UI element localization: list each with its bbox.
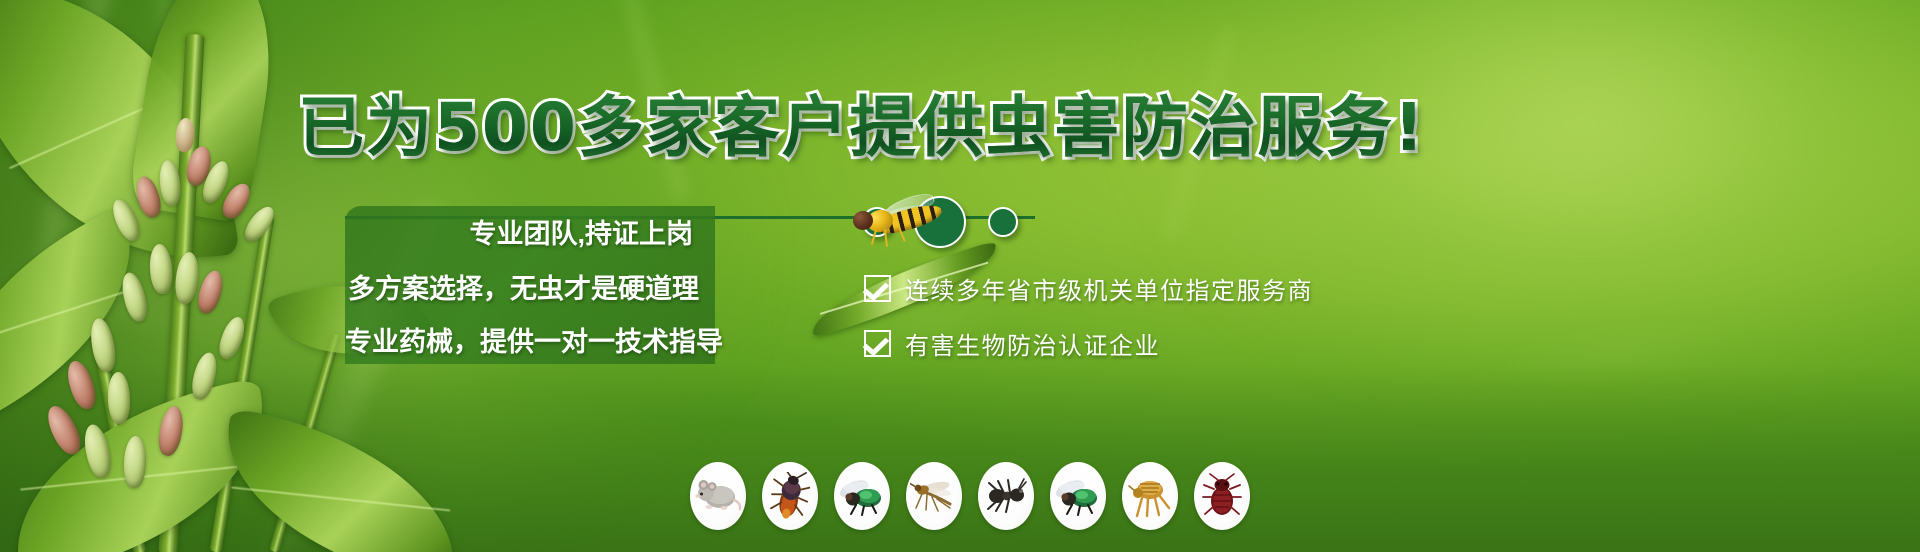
checkbox-checked-icon — [864, 275, 891, 302]
checkbox-checked-icon — [864, 330, 891, 357]
plant-seed-pod — [87, 317, 118, 374]
plant-seed-pod — [118, 270, 150, 324]
plant-seed-pod — [194, 268, 226, 316]
mosquito-icon[interactable]: 蚊 — [906, 462, 962, 530]
fly-icon[interactable]: 蝇 — [834, 462, 890, 530]
promo-banner: 已为500多家客户提供虫害防治服务! 已为500多家客户提供虫害防治服务! 专业… — [0, 0, 1920, 552]
plant-leaf — [205, 407, 477, 552]
fly-leg — [871, 229, 877, 245]
selling-point-line-2: 多方案选择，无虫才是硬道理 — [345, 267, 699, 306]
list-item: 连续多年省市级机关单位指定服务商 — [864, 271, 1313, 306]
fly-head — [853, 211, 873, 230]
cockroach-icon[interactable]: 蟑螂 — [762, 462, 818, 530]
page-title: 已为500多家客户提供虫害防治服务! — [298, 74, 1426, 170]
credentials-list: 连续多年省市级机关单位指定服务商 有害生物防治认证企业 — [864, 271, 1313, 381]
selling-point-line-1: 专业团队,持证上岗 — [345, 212, 699, 251]
dot-small-right — [988, 207, 1018, 237]
plant-seed-pod — [63, 358, 100, 413]
flea-icon[interactable]: 跳蚤 — [1122, 462, 1178, 530]
credential-text: 有害生物防治认证企业 — [905, 326, 1160, 361]
fly-green-icon[interactable]: 蝇 — [1050, 462, 1106, 530]
selling-points-box: 专业团队,持证上岗 多方案选择，无虫才是硬道理 专业药械，提供一对一技术指导 — [345, 206, 715, 364]
bedbug-icon[interactable]: 臭虫 — [1194, 462, 1250, 530]
list-item: 有害生物防治认证企业 — [864, 326, 1313, 361]
credential-text: 连续多年省市级机关单位指定服务商 — [905, 271, 1313, 306]
pest-icon-row: 鼠 蟑螂 — [690, 462, 1250, 530]
ant-icon[interactable]: 蚁 — [978, 462, 1034, 530]
hoverfly-photo — [851, 197, 951, 245]
mouse-icon[interactable]: 鼠 — [690, 462, 746, 530]
selling-point-line-3: 专业药械，提供一对一技术指导 — [345, 320, 699, 359]
plant-seed-pod — [107, 372, 131, 425]
plant-seed-pod — [42, 401, 86, 458]
